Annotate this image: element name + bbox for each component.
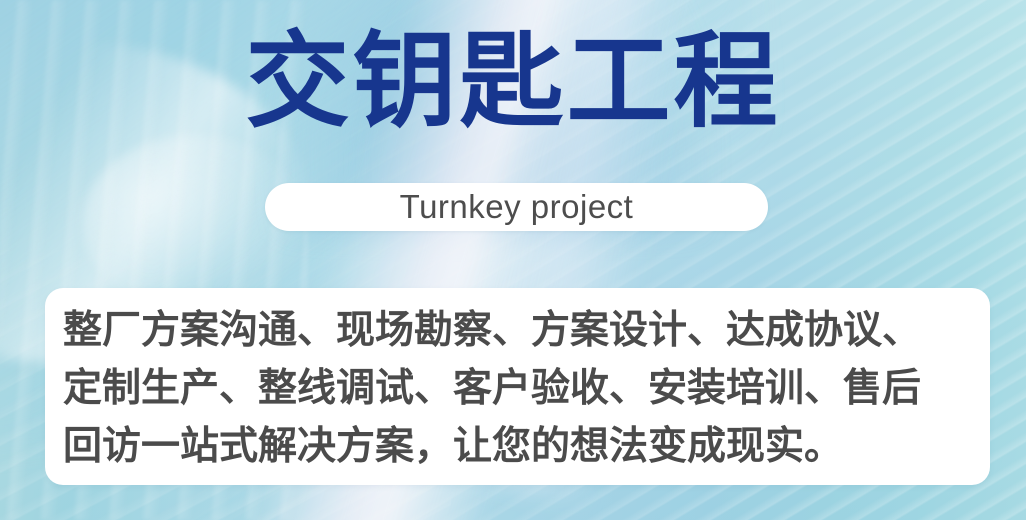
description-line-3: 回访一站式解决方案，让您的想法变成现实。 <box>63 418 972 476</box>
description-line-2: 定制生产、整线调试、客户验收、安装培训、售后 <box>63 360 972 418</box>
description-card: 整厂方案沟通、现场勘察、方案设计、达成协议、 定制生产、整线调试、客户验收、安装… <box>45 288 990 485</box>
subtitle-text: Turnkey project <box>400 188 634 226</box>
turnkey-project-banner: 交钥匙工程 Turnkey project 整厂方案沟通、现场勘察、方案设计、达… <box>0 0 1026 520</box>
subtitle-pill: Turnkey project <box>265 183 768 231</box>
page-title: 交钥匙工程 <box>0 18 1026 145</box>
description-line-1: 整厂方案沟通、现场勘察、方案设计、达成协议、 <box>63 302 972 360</box>
